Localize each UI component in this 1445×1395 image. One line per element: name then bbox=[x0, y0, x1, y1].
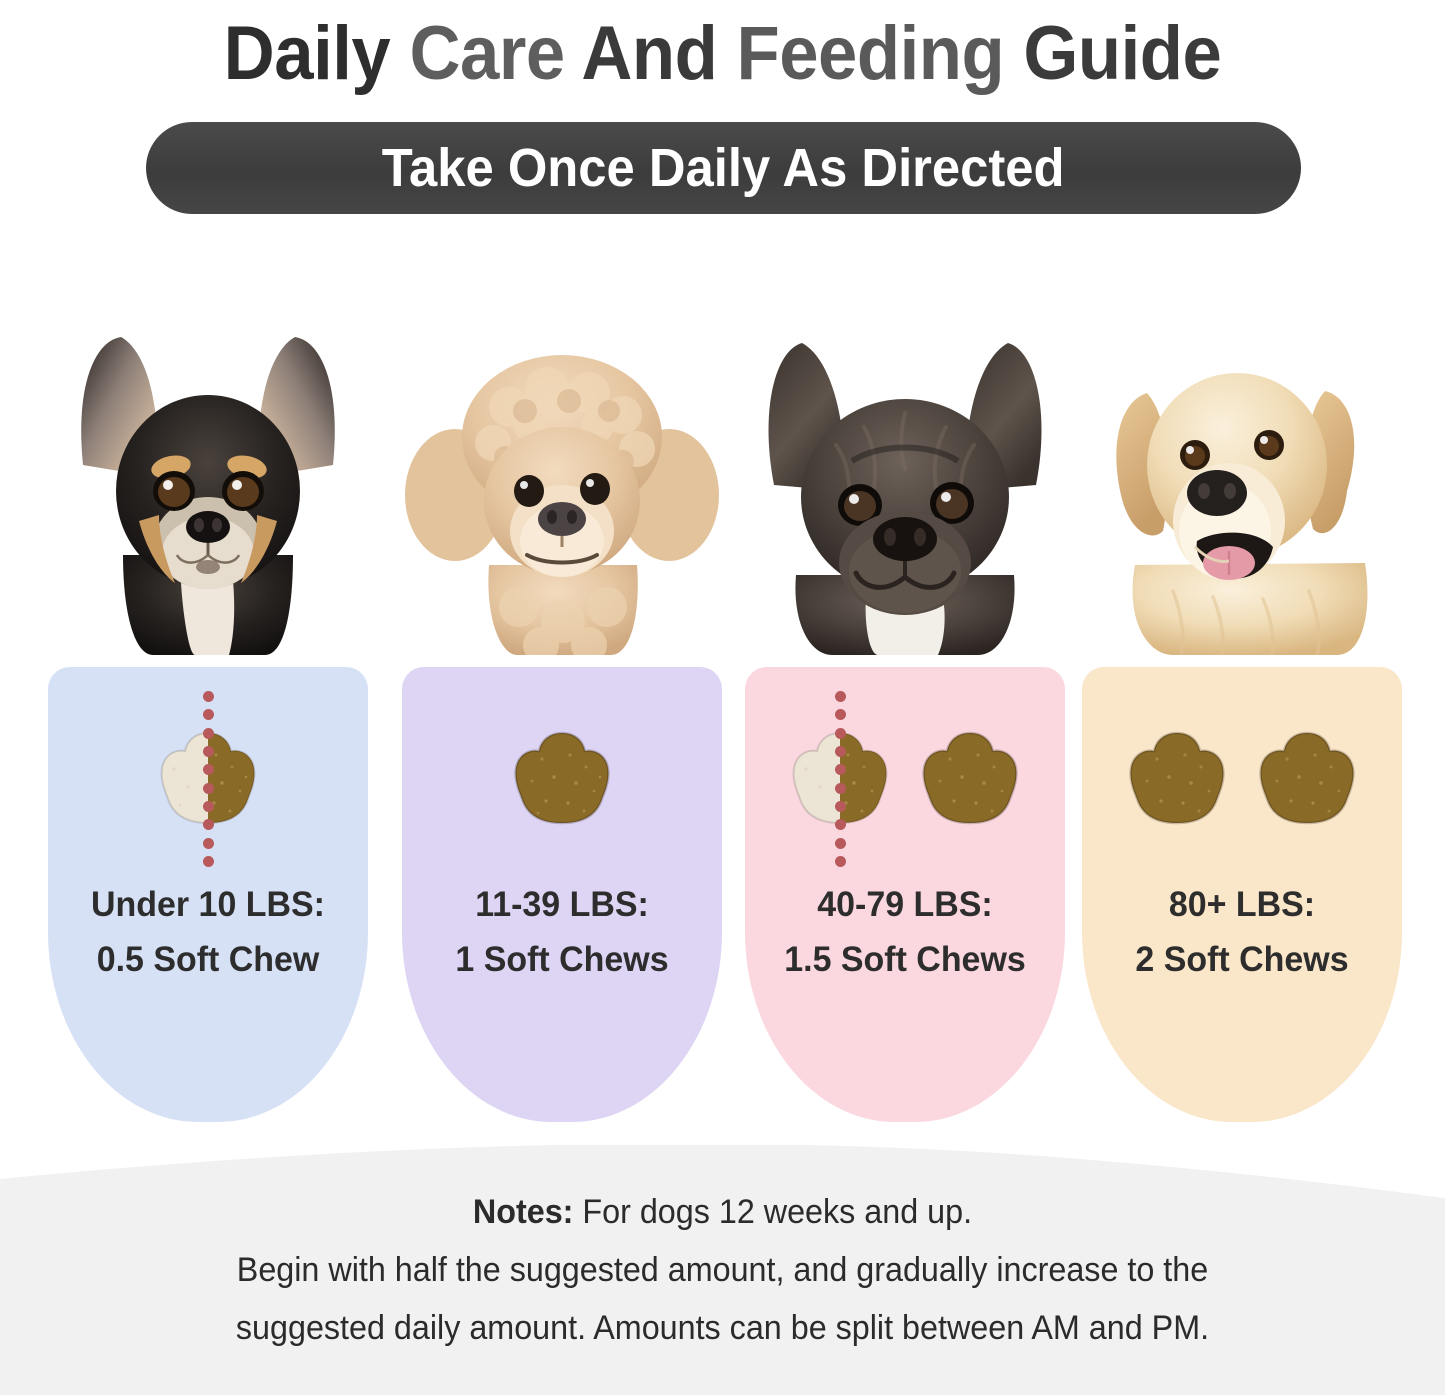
dosage-card-under-10-lbs[interactable]: Under 10 LBS: 0.5 Soft Chew bbox=[48, 262, 368, 1122]
dose-amount-label: 1 Soft Chews bbox=[407, 932, 717, 987]
chew-illustration-group bbox=[745, 709, 1065, 849]
dosage-panel: 80+ LBS: 2 Soft Chews bbox=[1082, 667, 1402, 1122]
half-dose-split-line bbox=[202, 691, 214, 867]
golden-retriever-photo bbox=[1077, 315, 1407, 655]
page-title-word-1: Daily bbox=[224, 11, 391, 96]
subtitle-text: Take Once Daily As Directed bbox=[382, 138, 1065, 198]
notes-line-2: Begin with half the suggested amount, an… bbox=[36, 1241, 1409, 1299]
feeding-guide-page: Daily Care And Feeding Guide Take Once D… bbox=[0, 0, 1445, 1395]
chihuahua-photo bbox=[43, 315, 373, 655]
dosage-card-80-plus-lbs[interactable]: 80+ LBS: 2 Soft Chews bbox=[1082, 262, 1402, 1122]
soft-chew-full-icon bbox=[916, 725, 1024, 833]
chew-illustration-group bbox=[1082, 709, 1402, 849]
soft-chew-half-icon bbox=[786, 725, 894, 833]
page-title-word-4: Feeding bbox=[736, 11, 1004, 96]
notes-line-1: Notes: For dogs 12 weeks and up. bbox=[36, 1183, 1409, 1241]
soft-chew-full-icon bbox=[508, 725, 616, 833]
french-bulldog-photo bbox=[740, 315, 1070, 655]
dosage-card-row: Under 10 LBS: 0.5 Soft Chew bbox=[0, 262, 1445, 1122]
chew-illustration-group bbox=[48, 709, 368, 849]
weight-range-label: 40-79 LBS: bbox=[750, 877, 1060, 932]
soft-chew-full-icon bbox=[1123, 725, 1231, 833]
dosage-card-40-79-lbs[interactable]: 40-79 LBS: 1.5 Soft Chews bbox=[745, 262, 1065, 1122]
notes-footer: Notes: For dogs 12 weeks and up. Begin w… bbox=[0, 1145, 1445, 1395]
page-title-word-3: And bbox=[581, 11, 717, 96]
dosage-card-text: Under 10 LBS: 0.5 Soft Chew bbox=[48, 877, 368, 987]
subtitle-banner: Take Once Daily As Directed bbox=[146, 122, 1301, 214]
dose-amount-label: 1.5 Soft Chews bbox=[750, 932, 1060, 987]
dosage-card-text: 80+ LBS: 2 Soft Chews bbox=[1082, 877, 1402, 987]
dosage-card-text: 11-39 LBS: 1 Soft Chews bbox=[402, 877, 722, 987]
notes-text-block: Notes: For dogs 12 weeks and up. Begin w… bbox=[0, 1183, 1445, 1357]
dosage-card-11-39-lbs[interactable]: 11-39 LBS: 1 Soft Chews bbox=[402, 262, 722, 1122]
half-dose-split-line bbox=[834, 691, 846, 867]
dosage-card-text: 40-79 LBS: 1.5 Soft Chews bbox=[745, 877, 1065, 987]
dosage-panel: 40-79 LBS: 1.5 Soft Chews bbox=[745, 667, 1065, 1122]
dosage-panel: 11-39 LBS: 1 Soft Chews bbox=[402, 667, 722, 1122]
soft-chew-full-icon bbox=[1253, 725, 1361, 833]
page-title-word-2: Care bbox=[409, 11, 564, 96]
toy-poodle-photo bbox=[397, 315, 727, 655]
dose-amount-label: 0.5 Soft Chew bbox=[53, 932, 363, 987]
weight-range-label: 11-39 LBS: bbox=[407, 877, 717, 932]
header: Daily Care And Feeding Guide Take Once D… bbox=[0, 0, 1445, 230]
dose-amount-label: 2 Soft Chews bbox=[1087, 932, 1397, 987]
page-title-word-5: Guide bbox=[1023, 11, 1221, 96]
soft-chew-half-icon bbox=[154, 725, 262, 833]
page-title: Daily Care And Feeding Guide bbox=[51, 6, 1395, 102]
weight-range-label: Under 10 LBS: bbox=[53, 877, 363, 932]
notes-line-3: suggested daily amount. Amounts can be s… bbox=[36, 1299, 1409, 1357]
weight-range-label: 80+ LBS: bbox=[1087, 877, 1397, 932]
chew-illustration-group bbox=[402, 709, 722, 849]
dosage-panel: Under 10 LBS: 0.5 Soft Chew bbox=[48, 667, 368, 1122]
notes-line-1-rest: For dogs 12 weeks and up. bbox=[573, 1193, 972, 1231]
notes-label: Notes: bbox=[473, 1193, 574, 1231]
